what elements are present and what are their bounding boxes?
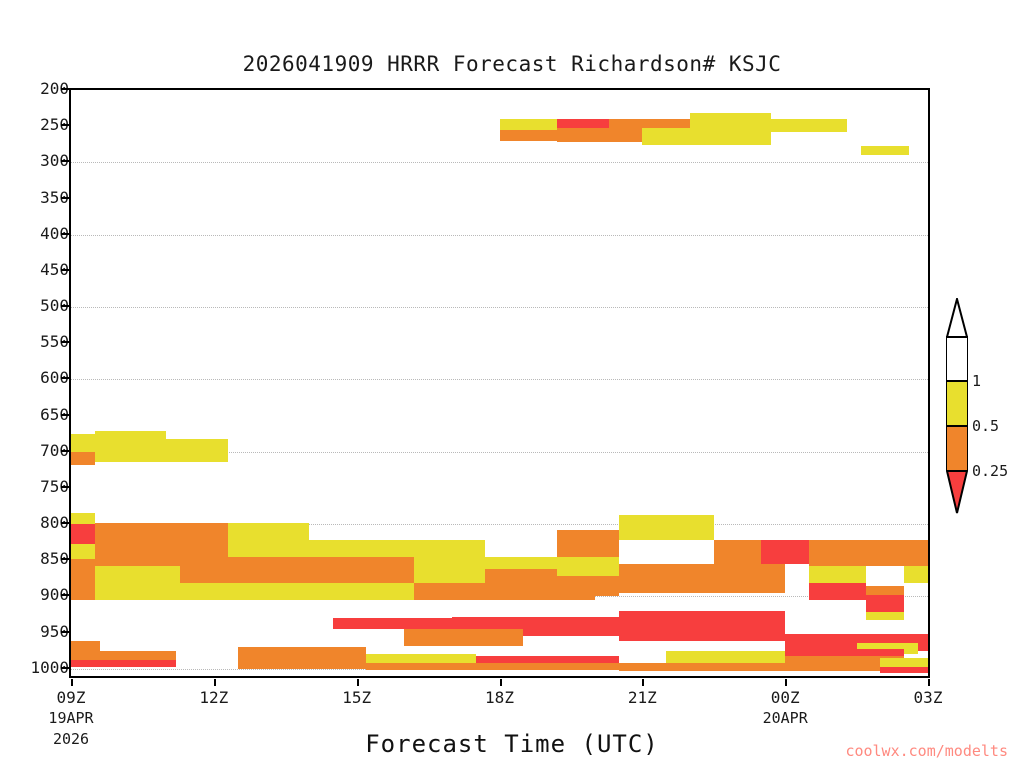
chart-title: 2026041909 HRRR Forecast Richardson# KSJ… xyxy=(0,52,1024,76)
y-tick-label: 700 xyxy=(7,441,69,460)
heatmap-cell xyxy=(771,119,847,132)
heatmap-cell xyxy=(619,611,786,641)
colorbar-arrow-top xyxy=(946,298,968,338)
heatmap-cell xyxy=(238,647,367,660)
heatmap-cell xyxy=(71,513,95,524)
colorbar-segment-over xyxy=(946,336,968,381)
heatmap-cell xyxy=(609,119,690,128)
y-tick-label: 800 xyxy=(7,513,69,532)
heatmap-cells xyxy=(71,90,928,676)
heatmap-cell xyxy=(238,660,367,669)
plot-area xyxy=(69,88,930,678)
y-tick-mark xyxy=(61,414,69,416)
grid-line xyxy=(71,307,928,309)
heatmap-cell xyxy=(642,128,690,145)
heatmap-cell xyxy=(761,540,809,564)
x-tick-date-label: 19APR xyxy=(48,709,93,727)
heatmap-cell xyxy=(71,544,95,558)
heatmap-cell xyxy=(228,557,414,584)
y-tick-mark xyxy=(61,594,69,596)
x-tick-mark xyxy=(500,679,502,686)
chart-root: 2026041909 HRRR Forecast Richardson# KSJ… xyxy=(0,0,1024,768)
heatmap-cell xyxy=(809,566,866,583)
x-tick-label: 12Z xyxy=(199,688,228,707)
y-tick-mark xyxy=(61,160,69,162)
heatmap-cell xyxy=(414,540,485,569)
y-tick-mark xyxy=(61,667,69,669)
y-tick-mark xyxy=(61,233,69,235)
y-tick-label: 950 xyxy=(7,622,69,641)
grid-line xyxy=(71,235,928,237)
heatmap-cell xyxy=(71,524,95,544)
y-tick-mark xyxy=(61,450,69,452)
y-tick-label: 550 xyxy=(7,332,69,351)
heatmap-cell xyxy=(557,530,619,557)
y-tick-label: 500 xyxy=(7,296,69,315)
heatmap-cell xyxy=(785,649,904,656)
x-tick-label: 03Z xyxy=(914,688,943,707)
x-tick-label: 09Z xyxy=(57,688,86,707)
heatmap-cell xyxy=(71,660,176,667)
heatmap-cell xyxy=(485,557,556,569)
x-tick-mark xyxy=(71,679,73,686)
heatmap-cell xyxy=(809,583,866,600)
y-tick-label: 600 xyxy=(7,368,69,387)
y-tick-mark xyxy=(61,269,69,271)
heatmap-cell xyxy=(309,540,414,557)
heatmap-cell xyxy=(71,452,95,465)
y-tick-mark xyxy=(61,486,69,488)
heatmap-cell xyxy=(333,618,452,629)
x-tick-mark xyxy=(928,679,930,686)
heatmap-cell xyxy=(866,595,904,612)
y-tick-label: 250 xyxy=(7,115,69,134)
heatmap-cell xyxy=(880,658,928,667)
heatmap-cell xyxy=(904,566,928,583)
heatmap-cell xyxy=(619,515,714,540)
x-tick-label: 15Z xyxy=(342,688,371,707)
heatmap-cell xyxy=(366,654,476,663)
heatmap-cell xyxy=(95,439,228,462)
y-tick-label: 300 xyxy=(7,151,69,170)
heatmap-cell xyxy=(557,576,619,596)
colorbar-arrow-bottom xyxy=(946,470,968,510)
x-tick-date-label: 20APR xyxy=(763,709,808,727)
heatmap-cell xyxy=(880,667,928,673)
heatmap-cell xyxy=(71,651,176,660)
y-tick-label: 1000 xyxy=(7,658,69,677)
colorbar-segment-mid xyxy=(946,426,968,471)
grid-line xyxy=(71,162,928,164)
heatmap-cell xyxy=(476,656,619,663)
heatmap-cell xyxy=(71,559,95,600)
watermark-link[interactable]: coolwx.com/modelts xyxy=(845,742,1008,760)
y-tick-mark xyxy=(61,522,69,524)
y-tick-mark xyxy=(61,377,69,379)
heatmap-cell xyxy=(714,540,762,564)
heatmap-cell xyxy=(95,431,166,438)
x-tick-label: 18Z xyxy=(485,688,514,707)
heatmap-cell xyxy=(866,612,904,619)
y-tick-mark xyxy=(61,305,69,307)
x-tick-mark xyxy=(357,679,359,686)
colorbar-legend: 10.50.25 xyxy=(946,298,970,460)
y-tick-mark xyxy=(61,631,69,633)
heatmap-cell xyxy=(557,557,619,577)
y-tick-label: 650 xyxy=(7,405,69,424)
y-tick-mark xyxy=(61,558,69,560)
y-tick-label: 900 xyxy=(7,585,69,604)
x-tick-label: 00Z xyxy=(771,688,800,707)
y-tick-mark xyxy=(61,341,69,343)
colorbar-tick-label: 0.5 xyxy=(972,417,999,435)
heatmap-cell xyxy=(557,119,609,128)
y-tick-label: 200 xyxy=(7,79,69,98)
heatmap-cell xyxy=(619,564,786,593)
x-tick-label: 21Z xyxy=(628,688,657,707)
heatmap-cell xyxy=(228,523,309,557)
y-tick-mark xyxy=(61,197,69,199)
y-tick-mark xyxy=(61,124,69,126)
colorbar-segment-high xyxy=(946,381,968,426)
y-axis: 2002503003504004505005506006507007508008… xyxy=(0,88,69,678)
y-tick-label: 850 xyxy=(7,549,69,568)
x-tick-mark xyxy=(642,679,644,686)
heatmap-cell xyxy=(809,540,928,566)
y-tick-label: 400 xyxy=(7,224,69,243)
heatmap-cell xyxy=(557,128,643,142)
x-tick-mark xyxy=(214,679,216,686)
y-tick-label: 450 xyxy=(7,260,69,279)
heatmap-cell xyxy=(404,629,523,646)
heatmap-cell xyxy=(690,113,771,145)
grid-line xyxy=(71,379,928,381)
y-tick-label: 750 xyxy=(7,477,69,496)
heatmap-cell xyxy=(71,434,95,452)
colorbar-tick-label: 1 xyxy=(972,372,981,390)
y-tick-label: 350 xyxy=(7,188,69,207)
heatmap-cell xyxy=(71,641,100,650)
heatmap-cell xyxy=(619,663,881,671)
colorbar-tick-label: 0.25 xyxy=(972,462,1008,480)
heatmap-cell xyxy=(500,130,557,141)
heatmap-cell xyxy=(366,663,618,670)
heatmap-cell xyxy=(866,586,904,595)
heatmap-cell xyxy=(485,569,556,583)
heatmap-cell xyxy=(666,651,785,663)
y-tick-mark xyxy=(61,88,69,90)
heatmap-cell xyxy=(95,583,414,600)
x-tick-mark xyxy=(785,679,787,686)
heatmap-cell xyxy=(95,566,181,583)
heatmap-cell xyxy=(861,146,909,155)
